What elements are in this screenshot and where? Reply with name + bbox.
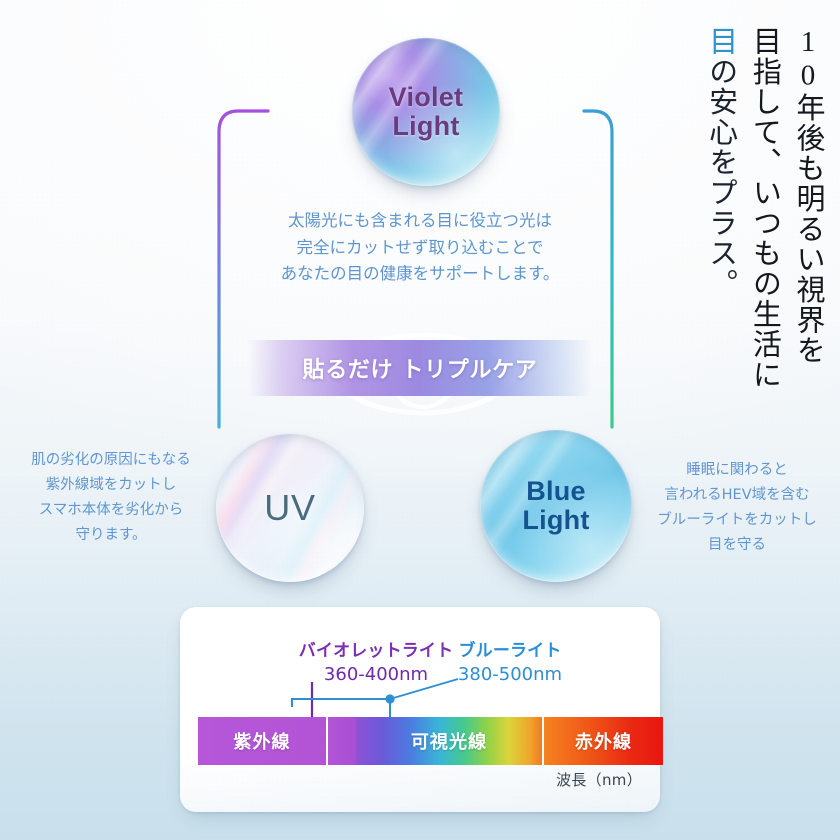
description-uv: 肌の劣化の原因にもなる 紫外線域をカットし スマホ本体を劣化から 守ります。 — [8, 448, 214, 548]
headline-rest: の安心をプラス。 — [705, 56, 737, 298]
blue-light-range: 380-500nm — [458, 664, 562, 685]
description-line: 太陽光にも含まれる目に役立つ光は — [228, 208, 612, 235]
description-violet: 太陽光にも含まれる目に役立つ光は 完全にカットせず取り込むことで あなたの目の健… — [228, 208, 612, 288]
spectrum-band-violet — [326, 717, 360, 765]
triple-care-banner: 貼るだけ トリプルケア — [248, 340, 592, 396]
description-line: 紫外線域をカットし — [8, 473, 214, 498]
infographic-root: 貼るだけ トリプルケア 10年後も明るい視界を 目指して、いつもの生活に 目の安… — [0, 0, 840, 840]
spectrum-band-infrared: 赤外線 — [542, 717, 663, 765]
orb-blue-line2: Light — [522, 506, 589, 535]
headline-column-3: 目の安心をプラス。 — [701, 26, 739, 299]
headline: 10年後も明るい視界を 目指して、いつもの生活に 目の安心をプラス。 — [701, 26, 826, 390]
description-line: 目を守る — [636, 533, 838, 558]
description-line: スマホ本体を劣化から — [8, 498, 214, 523]
headline-column-2: 目指して、いつもの生活に — [745, 26, 783, 390]
description-line: ブルーライトをカットし — [636, 508, 838, 533]
orb-violet-light: Violet Light — [352, 38, 500, 186]
orb-violet-line1: Violet — [389, 83, 464, 112]
orb-uv-label: UV — [264, 489, 315, 527]
orb-blue-label: Blue Light — [522, 477, 589, 534]
violet-light-range: 360-400nm — [299, 664, 454, 685]
description-line: 睡眠に関わると — [636, 458, 838, 483]
description-line: 守ります。 — [8, 523, 214, 548]
orb-blue-light: Blue Light — [480, 430, 632, 582]
violet-light-name: バイオレットライト — [299, 636, 454, 661]
blue-light-name: ブルーライト — [458, 636, 562, 661]
orb-blue-line1: Blue — [522, 477, 589, 506]
band-label-ultraviolet: 紫外線 — [233, 728, 290, 754]
banner-label: 貼るだけ トリプルケア — [303, 352, 538, 384]
orb-uv: UV — [216, 434, 364, 582]
headline-column-1: 10年後も明るい視界を — [788, 26, 826, 365]
description-line: 完全にカットせず取り込むことで — [228, 235, 612, 262]
description-line: 言われるHEV域を含む — [636, 483, 838, 508]
spectrum-band-ultraviolet: 紫外線 — [198, 717, 326, 765]
headline-lead-char: 目 — [705, 26, 737, 56]
description-line: 肌の劣化の原因にもなる — [8, 448, 214, 473]
spectrum-panel: バイオレットライト 360-400nm ブルーライト 380-500nm 紫外線 — [180, 607, 660, 812]
orb-violet-line2: Light — [389, 112, 464, 141]
description-blue: 睡眠に関わると 言われるHEV域を含む ブルーライトをカットし 目を守る — [636, 458, 838, 558]
band-label-visible: 可視光線 — [411, 728, 487, 754]
wavelength-axis-caption: 波長（nm） — [556, 769, 642, 790]
spectrum-bar: 紫外線 可視光線 赤外線 — [198, 717, 661, 765]
band-label-infrared: 赤外線 — [575, 728, 632, 754]
spectrum-band-visible: 可視光線 — [356, 717, 542, 765]
orb-violet-label: Violet Light — [389, 83, 464, 140]
description-line: あなたの目の健康をサポートします。 — [228, 261, 612, 288]
